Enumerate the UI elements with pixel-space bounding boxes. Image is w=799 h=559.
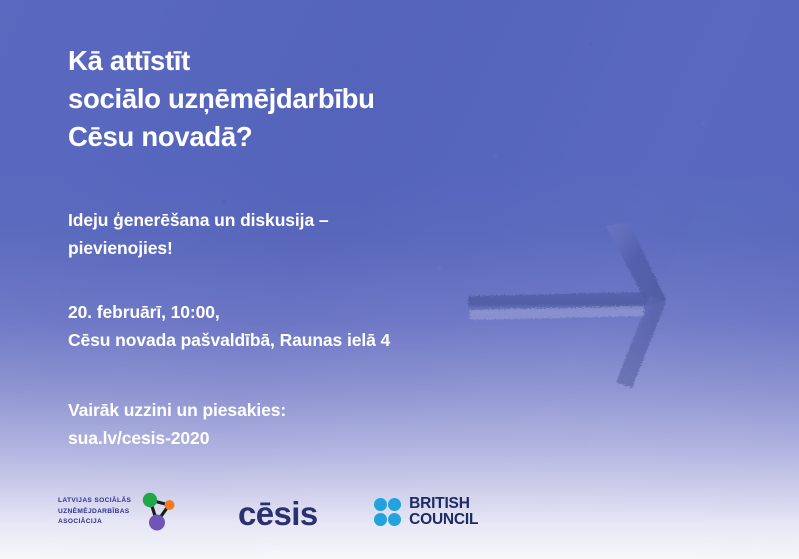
event-datetime: 20. februārī, 10:00, — [68, 298, 498, 326]
british-council-line-2: COUNCIL — [409, 512, 478, 528]
event-details: 20. februārī, 10:00, Cēsu novada pašvald… — [68, 298, 498, 355]
headline-line-1: Kā attīstīt — [68, 42, 538, 80]
poster-headline: Kā attīstīt sociālo uzņēmējdarbību Cēsu … — [68, 42, 538, 156]
cesis-logo: cēsis — [238, 497, 318, 530]
poster-canvas: Kā attīstīt sociālo uzņēmējdarbību Cēsu … — [0, 0, 799, 559]
latvijas-socialas-uznemejdarbibas-asociacija-logo: LATVIJAS SOCIĀLĀS UZŅĒMĒJDARBĪBAS ASOCIĀ… — [58, 490, 186, 534]
poster-subheadline: Ideju ģenerēšana un diskusija – pievieno… — [68, 206, 498, 263]
cta-label: Vairāk uzzini un piesakies: — [68, 396, 498, 424]
headline-line-3: Cēsu novadā? — [68, 118, 538, 156]
headline-line-2: sociālo uzņēmējdarbību — [68, 80, 538, 118]
arrow-right-graphic — [466, 222, 686, 407]
british-council-line-1: BRITISH — [409, 496, 478, 512]
lsua-text-line-3: ASOCIĀCIJA — [58, 517, 131, 528]
subhead-line-1: Ideju ģenerēšana un diskusija – — [68, 206, 498, 234]
lsua-logo-text: LATVIJAS SOCIĀLĀS UZŅĒMĒJDARBĪBAS ASOCIĀ… — [58, 496, 131, 528]
lsua-text-line-1: LATVIJAS SOCIĀLĀS — [58, 496, 131, 507]
british-council-logo: BRITISH COUNCIL — [374, 496, 479, 529]
cta-url[interactable]: sua.lv/cesis-2020 — [68, 424, 498, 452]
lsua-network-icon — [138, 490, 178, 534]
poster-cta: Vairāk uzzini un piesakies: sua.lv/cesis… — [68, 396, 498, 453]
british-council-wordmark: BRITISH COUNCIL — [409, 496, 478, 529]
subhead-line-2: pievienojies! — [68, 234, 498, 262]
logo-bar: LATVIJAS SOCIĀLĀS UZŅĒMĒJDARBĪBAS ASOCIĀ… — [58, 484, 758, 540]
event-location: Cēsu novada pašvaldībā, Raunas ielā 4 — [68, 326, 498, 354]
british-council-dots-icon — [374, 498, 402, 526]
lsua-text-line-2: UZŅĒMĒJDARBĪBAS — [58, 507, 131, 518]
